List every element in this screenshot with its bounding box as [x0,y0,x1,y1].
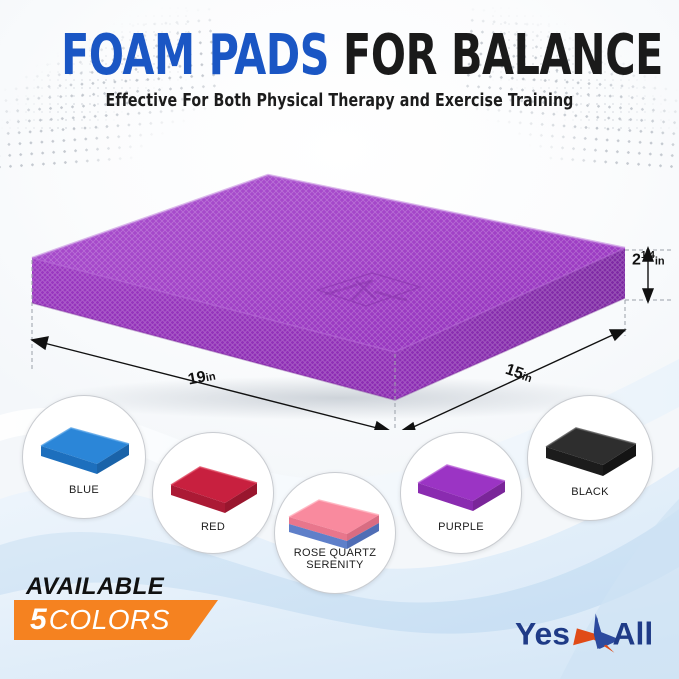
header: FOAM PADS FOR BALANCE Effective For Both… [0,26,679,111]
color-swatch-black[interactable]: BLACK [527,395,653,521]
page-subtitle: Effective For Both Physical Therapy and … [41,90,639,111]
color-swatch-red-label: RED [153,521,273,533]
color-swatch-blue-label: BLUE [23,484,145,496]
pad-thumbnail-red [167,461,261,519]
pad-thumbnail-blue [37,422,133,480]
color-swatch-blue[interactable]: BLUE [22,395,146,519]
pad-thumbnail-rose-quartz-serenity [285,495,385,553]
color-swatch-rose-quartz-serenity[interactable]: ROSE QUARTZ SERENITY [274,472,396,594]
brand-logo-yes4all: Yes All [515,611,665,655]
dimension-height-value: 2 [632,251,641,268]
colors-count: 5 [30,605,47,635]
color-swatch-purple[interactable]: PURPLE [400,432,522,554]
title-rest [329,23,343,88]
dimension-height: 21/4in [632,250,665,269]
color-swatch-black-label: BLACK [528,486,652,498]
product-infographic: FOAM PADS FOR BALANCE Effective For Both… [0,0,679,679]
color-swatch-red[interactable]: RED [152,432,274,554]
colors-word: COLORS [49,605,170,635]
dimension-height-unit: in [655,255,665,267]
page-title: FOAM PADS FOR BALANCE [61,26,618,86]
colors-count-banner: 5 COLORS [14,600,218,640]
hero-product-area: 19in 15in 21/4in [0,140,679,430]
title-secondary: FOR BALANCE [343,23,663,88]
dimension-length-unit: in [205,371,217,385]
brand-name-left: Yes [515,615,570,651]
brand-name-right: All [613,615,654,651]
title-highlight: FOAM PADS [61,23,329,88]
pad-thumbnail-black [542,422,640,482]
color-swatch-rose-label-line1: ROSE QUARTZ [275,547,395,559]
color-swatch-purple-label: PURPLE [401,521,521,533]
dimension-height-fraction: 1/4 [641,250,655,261]
color-swatch-rose-label-line2: SERENITY [275,559,395,571]
product-illustration [0,140,679,430]
pad-thumbnail-purple [414,459,510,517]
available-label: AVAILABLE [26,573,164,601]
